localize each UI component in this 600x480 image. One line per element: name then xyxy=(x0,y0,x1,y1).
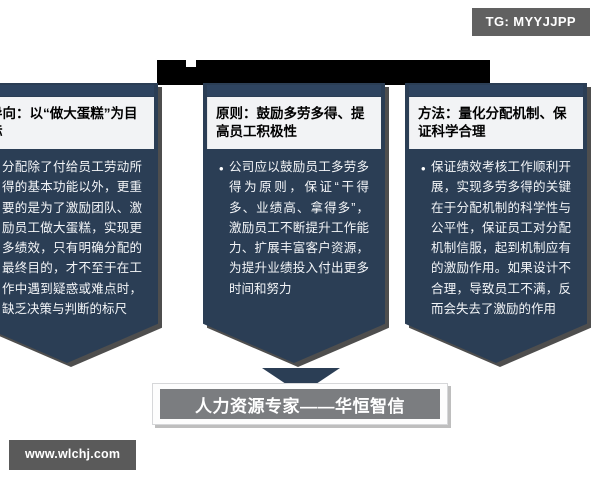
card-title-box: 方法：量化分配机制、保证科学合理 xyxy=(409,97,583,149)
telegram-watermark-badge: TG: MYYJJPP xyxy=(472,8,590,36)
redaction-bar-notch xyxy=(186,60,196,67)
card-group: 导向：以“做大蛋糕”为目标 • 分配除了付给员工劳动所得的基本功能以外，更重要的… xyxy=(0,83,600,373)
bottom-banner-label: 人力资源专家——华恒智信 xyxy=(195,392,405,417)
bullet-icon: • xyxy=(421,157,431,319)
card-body-text: 公司应以鼓励员工多劳多得为原则，保证“干得多、业绩高、拿得多”，激励员工不断提升… xyxy=(229,157,369,299)
card-principle[interactable]: 原则：鼓励多劳多得、提高员工积极性 • 公司应以鼓励员工多劳多得为原则，保证“干… xyxy=(203,83,385,363)
card-title: 导向：以“做大蛋糕”为目标 xyxy=(0,105,147,141)
card-top-strip xyxy=(0,85,154,96)
slide-canvas: TG: MYYJJPP 导向：以“做大蛋糕”为目标 • 分配除了付给员工劳动所得… xyxy=(0,0,600,480)
card-title-box: 导向：以“做大蛋糕”为目标 xyxy=(0,97,154,149)
bottom-banner: 人力资源专家——华恒智信 xyxy=(160,389,440,419)
card-title-box: 原则：鼓励多劳多得、提高员工积极性 xyxy=(207,97,381,149)
card-top-strip xyxy=(207,85,381,96)
card-top-strip xyxy=(409,85,583,96)
card-body-text: 分配除了付给员工劳动所得的基本功能以外，更重要的是为了激励团队、激励员工做大蛋糕… xyxy=(2,157,142,319)
card-body-text: 保证绩效考核工作顺利开展，实现多劳多得的关键在于分配机制的科学性与公平性，保证员… xyxy=(431,157,571,319)
bullet-icon: • xyxy=(219,157,229,299)
card-title: 原则：鼓励多劳多得、提高员工积极性 xyxy=(216,105,374,141)
card-content: • 公司应以鼓励员工多劳多得为原则，保证“干得多、业绩高、拿得多”，激励员工不断… xyxy=(207,151,381,299)
footer-website-badge[interactable]: www.wlchj.com xyxy=(9,440,136,470)
card-content: • 保证绩效考核工作顺利开展，实现多劳多得的关键在于分配机制的科学性与公平性，保… xyxy=(409,151,583,319)
card-content: • 分配除了付给员工劳动所得的基本功能以外，更重要的是为了激励团队、激励员工做大… xyxy=(0,151,154,319)
card-guidance[interactable]: 导向：以“做大蛋糕”为目标 • 分配除了付给员工劳动所得的基本功能以外，更重要的… xyxy=(0,83,158,363)
card-method[interactable]: 方法：量化分配机制、保证科学合理 • 保证绩效考核工作顺利开展，实现多劳多得的关… xyxy=(405,83,587,363)
redaction-bar xyxy=(157,60,490,85)
card-title: 方法：量化分配机制、保证科学合理 xyxy=(418,105,576,141)
